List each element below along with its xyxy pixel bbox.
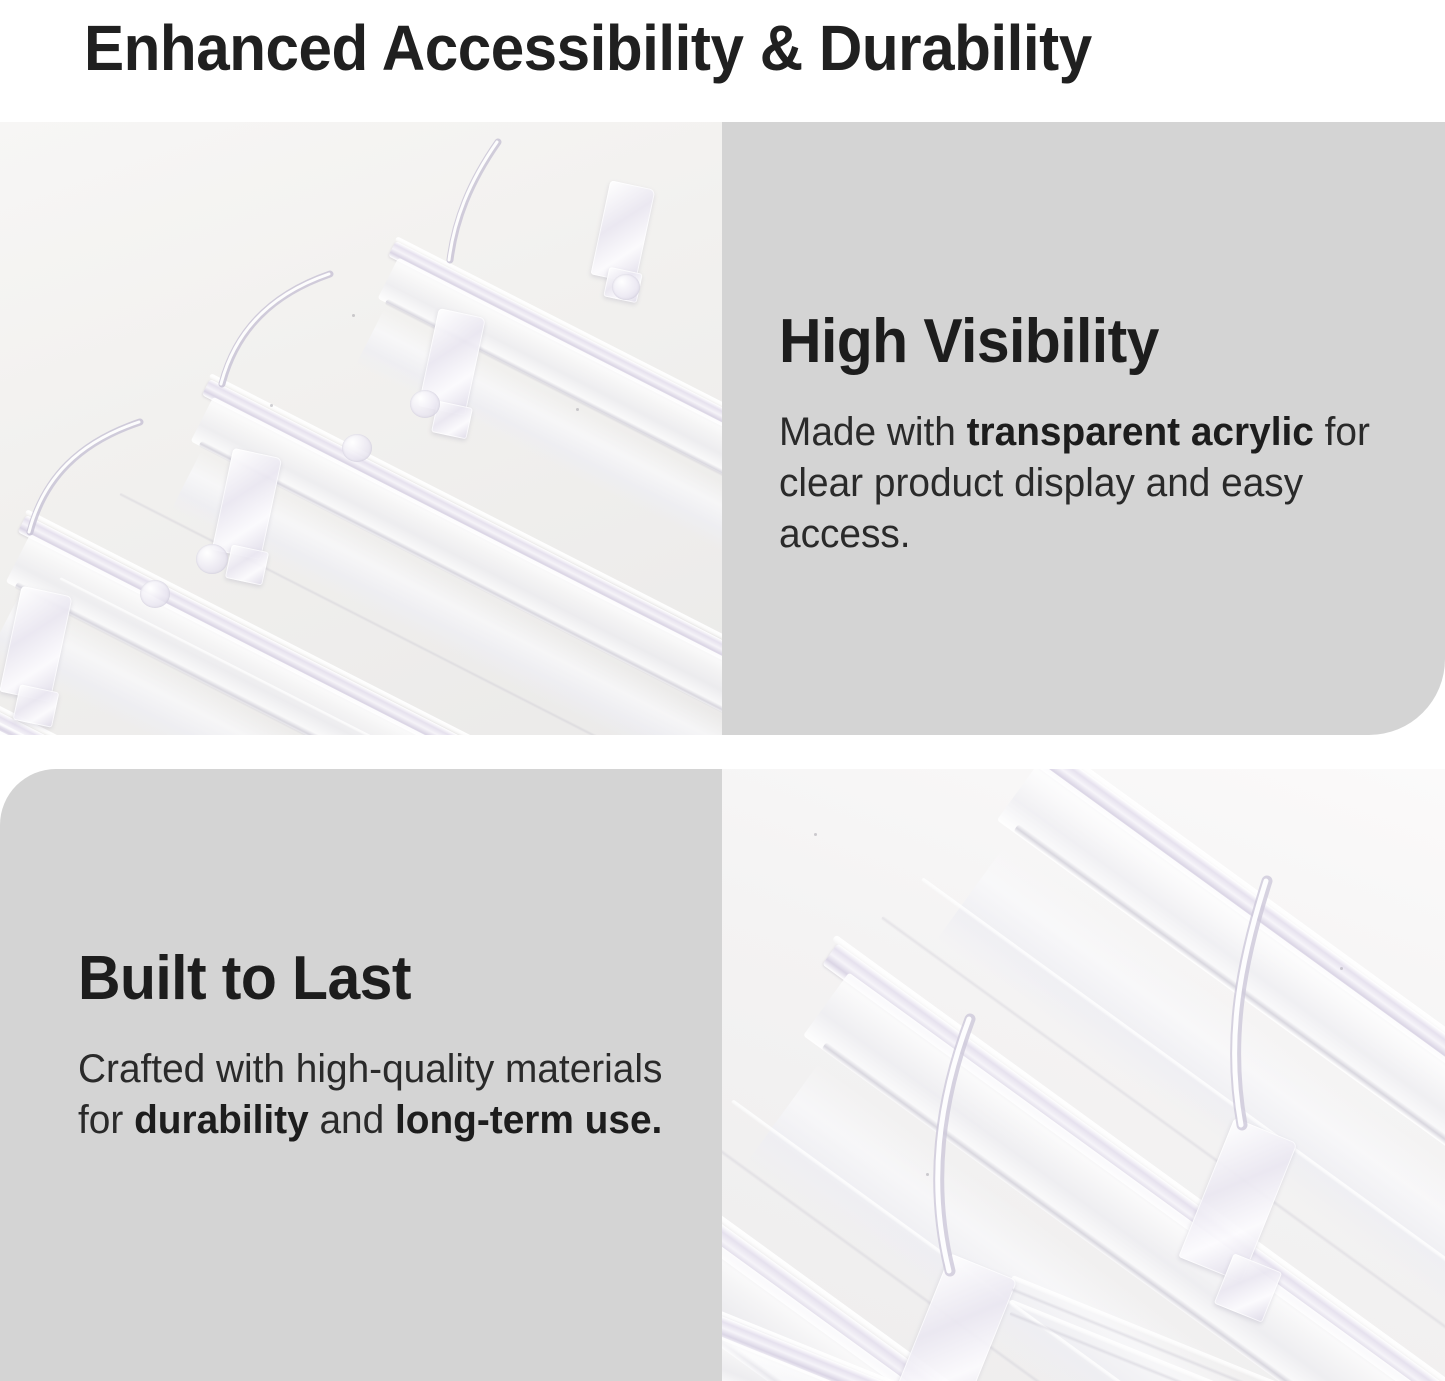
product-photo-closeup-rails [722, 769, 1445, 1381]
body-text-bold-2: durability [134, 1098, 309, 1142]
feature-graphic: Enhanced Accessibility & Durability [0, 0, 1445, 1381]
product-photo-angled-trays [0, 122, 722, 735]
spring-wire-graphic-closeup [722, 769, 1445, 1381]
section-built-to-last: Built to Last Crafted with high-quality … [0, 769, 1445, 1381]
text-panel-built-to-last: Built to Last Crafted with high-quality … [0, 769, 722, 1381]
page-title: Enhanced Accessibility & Durability [84, 14, 1092, 82]
spring-wire-graphic [0, 122, 722, 735]
feature-body-high-visibility: Made with transparent acrylic for clear … [779, 407, 1380, 560]
title-bar: Enhanced Accessibility & Durability [0, 0, 1445, 104]
section-high-visibility: High Visibility Made with transparent ac… [0, 122, 1445, 735]
text-panel-high-visibility: High Visibility Made with transparent ac… [722, 122, 1445, 735]
body-text-bold: transparent acrylic [967, 410, 1314, 454]
body-text-before: Made with [779, 410, 967, 454]
body-text-bold-3: long-term use. [395, 1098, 662, 1142]
feature-heading-high-visibility: High Visibility [779, 310, 1412, 374]
body-text-mid-2: and [309, 1098, 395, 1142]
feature-body-built-to-last: Crafted with high-quality materials for … [78, 1044, 679, 1146]
feature-heading-built-to-last: Built to Last [78, 947, 690, 1011]
